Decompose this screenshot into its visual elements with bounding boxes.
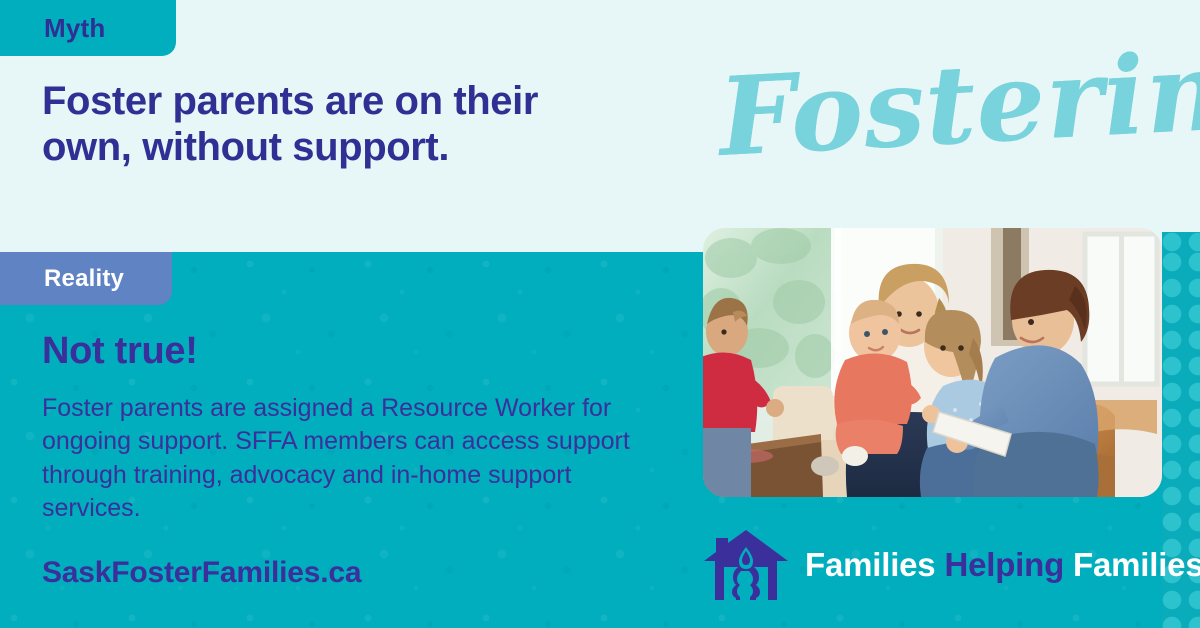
- myth-headline: Foster parents are on their own, without…: [42, 78, 642, 171]
- reality-badge-label: Reality: [44, 265, 124, 293]
- house-with-two-figures-logo-icon: [703, 529, 789, 601]
- logo-word-families-1: Families: [805, 546, 944, 583]
- poster-canvas: Myth Foster parents are on their own, wi…: [0, 0, 1200, 628]
- family-photo: [703, 228, 1162, 497]
- myth-headline-line2: own, without support.: [42, 124, 642, 170]
- reality-body-text: Foster parents are assigned a Resource W…: [42, 392, 656, 525]
- myth-badge: Myth: [0, 0, 176, 56]
- reality-badge: Reality: [0, 252, 172, 305]
- reality-heading: Not true!: [42, 330, 198, 373]
- logo-word-helping: Helping: [944, 546, 1064, 583]
- myth-badge-label: Myth: [44, 13, 105, 44]
- brand-logo-wordmark: Families Helping Families: [805, 546, 1200, 584]
- myth-headline-line1: Foster parents are on their: [42, 79, 538, 123]
- fostering-script-word: Fostering: [716, 34, 1200, 172]
- brand-logo-lockup: Families Helping Families: [703, 528, 1165, 602]
- website-url[interactable]: SaskFosterFamilies.ca: [42, 556, 361, 590]
- logo-word-families-2: Families: [1064, 546, 1200, 583]
